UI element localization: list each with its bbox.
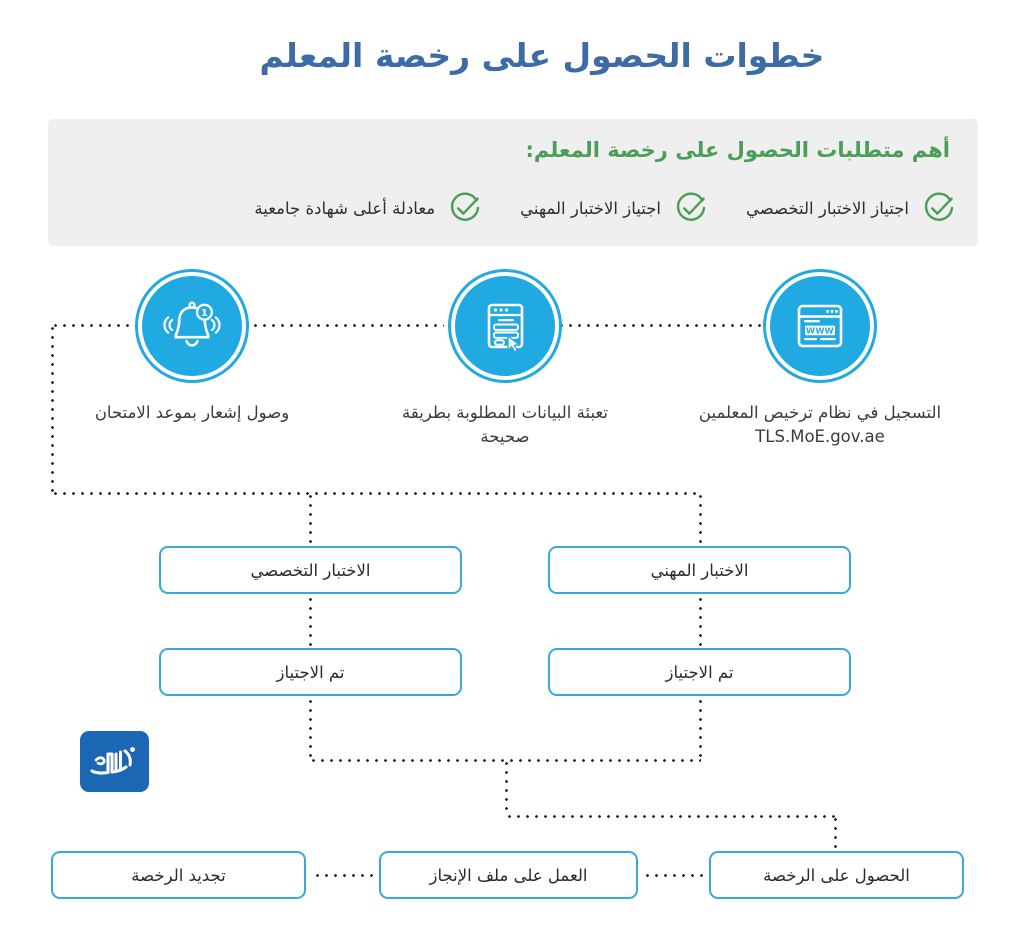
connector-to-professional-exam bbox=[699, 492, 702, 547]
requirements-panel: أهم متطلبات الحصول على رخصة المعلم: اجتي… bbox=[48, 119, 978, 246]
check-circle-icon bbox=[920, 189, 958, 227]
step-fill-data: تعبئة البيانات المطلوبة بطريقة صحيحة bbox=[355, 276, 655, 449]
step-caption: تعبئة البيانات المطلوبة بطريقة صحيحة bbox=[355, 401, 655, 449]
step-caption: وصول إشعار بموعد الامتحان bbox=[42, 401, 342, 425]
requirements-list: اجتياز الاختبار التخصصي اجتياز الاختبار … bbox=[68, 189, 958, 227]
flow-box-label: الاختبار المهني bbox=[651, 561, 749, 580]
browser-www-icon: WWW bbox=[770, 276, 870, 376]
requirement-item: اجتياز الاختبار المهني bbox=[520, 189, 710, 227]
flow-box-passed-specialized[interactable]: تم الاجتياز bbox=[159, 648, 462, 696]
step-caption-main: تعبئة البيانات المطلوبة بطريقة bbox=[402, 403, 608, 422]
step-caption-main: التسجيل في نظام ترخيص المعلمين bbox=[699, 403, 941, 422]
flow-box-exam-specialized[interactable]: الاختبار التخصصي bbox=[159, 546, 462, 594]
requirement-label: اجتياز الاختبار التخصصي bbox=[746, 199, 909, 218]
connector-license-to-portfolio bbox=[643, 874, 707, 877]
step-exam-notification: 1 وصول إشعار بموعد الامتحان bbox=[42, 276, 342, 425]
connector-professional-to-passed bbox=[699, 595, 702, 648]
connector-specialized-to-passed bbox=[309, 595, 312, 648]
flow-box-label: تم الاجتياز bbox=[277, 663, 345, 682]
step-registration: WWW التسجيل في نظام ترخيص المعلمين TLS.M… bbox=[670, 276, 970, 449]
connector-passed-professional-down bbox=[699, 697, 702, 760]
page-title: خطوات الحصول على رخصة المعلم bbox=[0, 36, 1024, 75]
flow-box-label: تجديد الرخصة bbox=[131, 866, 225, 885]
connector-to-obtain-license bbox=[505, 815, 836, 818]
bell-badge-count: 1 bbox=[201, 308, 208, 319]
flow-box-renew-license[interactable]: تجديد الرخصة bbox=[51, 851, 306, 899]
flow-box-label: الاختبار التخصصي bbox=[251, 561, 371, 580]
flow-box-obtain-license[interactable]: الحصول على الرخصة bbox=[709, 851, 964, 899]
requirements-heading: أهم متطلبات الحصول على رخصة المعلم: bbox=[525, 138, 950, 162]
almarjie-logo[interactable] bbox=[80, 731, 149, 792]
logo-calligraphy-icon bbox=[86, 740, 144, 784]
step-caption-cont: صحيحة bbox=[355, 425, 655, 449]
flow-box-label: تم الاجتياز bbox=[666, 663, 734, 682]
connector-bus-horizontal bbox=[51, 492, 701, 495]
requirement-label: اجتياز الاختبار المهني bbox=[520, 199, 661, 218]
connector-down-to-obtain-license bbox=[834, 815, 837, 853]
flow-box-label: العمل على ملف الإنجاز bbox=[430, 866, 588, 885]
step-caption-main: وصول إشعار بموعد الامتحان bbox=[95, 403, 289, 422]
check-circle-icon bbox=[446, 189, 484, 227]
connector-merge-down bbox=[505, 759, 508, 816]
requirement-item: اجتياز الاختبار التخصصي bbox=[746, 189, 958, 227]
step-caption-url: TLS.MoE.gov.ae bbox=[670, 425, 970, 449]
requirement-item: معادلة أعلى شهادة جامعية bbox=[254, 189, 484, 227]
connector-passed-specialized-down bbox=[309, 697, 312, 760]
flow-box-label: الحصول على الرخصة bbox=[763, 866, 910, 885]
svg-text:WWW: WWW bbox=[806, 325, 834, 335]
step-caption: التسجيل في نظام ترخيص المعلمين TLS.MoE.g… bbox=[670, 401, 970, 449]
notification-bell-icon: 1 bbox=[142, 276, 242, 376]
infographic-root: خطوات الحصول على رخصة المعلم أهم متطلبات… bbox=[0, 0, 1024, 943]
flow-box-portfolio-work[interactable]: العمل على ملف الإنجاز bbox=[379, 851, 638, 899]
requirement-label: معادلة أعلى شهادة جامعية bbox=[254, 199, 435, 218]
flow-box-exam-professional[interactable]: الاختبار المهني bbox=[548, 546, 851, 594]
flow-box-passed-professional[interactable]: تم الاجتياز bbox=[548, 648, 851, 696]
form-cursor-icon bbox=[455, 276, 555, 376]
connector-portfolio-to-renew bbox=[313, 874, 377, 877]
steps-row: WWW التسجيل في نظام ترخيص المعلمين TLS.M… bbox=[0, 276, 1024, 456]
check-circle-icon bbox=[672, 189, 710, 227]
connector-to-specialized-exam bbox=[309, 492, 312, 547]
